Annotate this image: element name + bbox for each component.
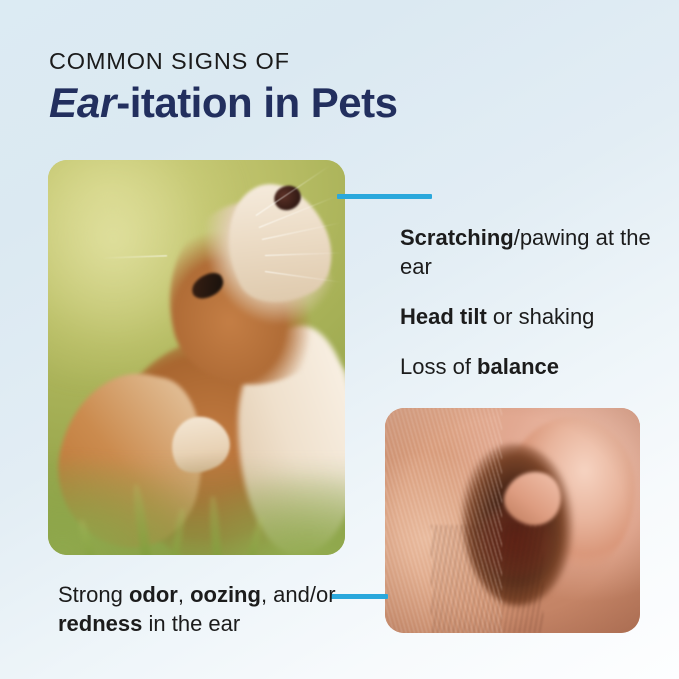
sign-item-scratching: Scratching/pawing at the ear <box>400 223 662 281</box>
infographic-canvas: COMMON SIGNS OF Ear-itation in Pets Scra… <box>0 0 679 679</box>
note-tail: in the ear <box>142 611 240 636</box>
sign-bold: Head tilt <box>400 304 487 329</box>
ear-vignette <box>385 408 640 633</box>
title-kicker: COMMON SIGNS OF <box>49 48 629 74</box>
title-headline-rest: -itation in Pets <box>116 79 397 126</box>
sign-item-loss-of-balance: Loss of balance <box>400 352 662 381</box>
dog-scratching-photo <box>48 160 345 555</box>
signs-list: Scratching/pawing at the ear Head tilt o… <box>400 223 662 381</box>
note-mid-2: , and/or <box>261 582 336 607</box>
note-bold-redness: redness <box>58 611 142 636</box>
ear-closeup-photo <box>385 408 640 633</box>
note-lead: Strong <box>58 582 129 607</box>
title-headline-emphasis: Ear <box>49 79 116 126</box>
sign-bold: Scratching <box>400 225 514 250</box>
note-bold-odor: odor <box>129 582 178 607</box>
note-mid-1: , <box>178 582 190 607</box>
sign-item-head-tilt: Head tilt or shaking <box>400 302 662 331</box>
grass-foreground <box>48 429 345 555</box>
sign-lead: Loss of <box>400 354 477 379</box>
note-bold-oozing: oozing <box>190 582 261 607</box>
connector-line-top <box>337 194 432 199</box>
page-title: COMMON SIGNS OF Ear-itation in Pets <box>49 48 629 127</box>
bottom-note: Strong odor, oozing, and/or redness in t… <box>58 580 358 638</box>
sign-rest: or shaking <box>487 304 595 329</box>
title-headline: Ear-itation in Pets <box>49 80 629 126</box>
sign-bold: balance <box>477 354 559 379</box>
